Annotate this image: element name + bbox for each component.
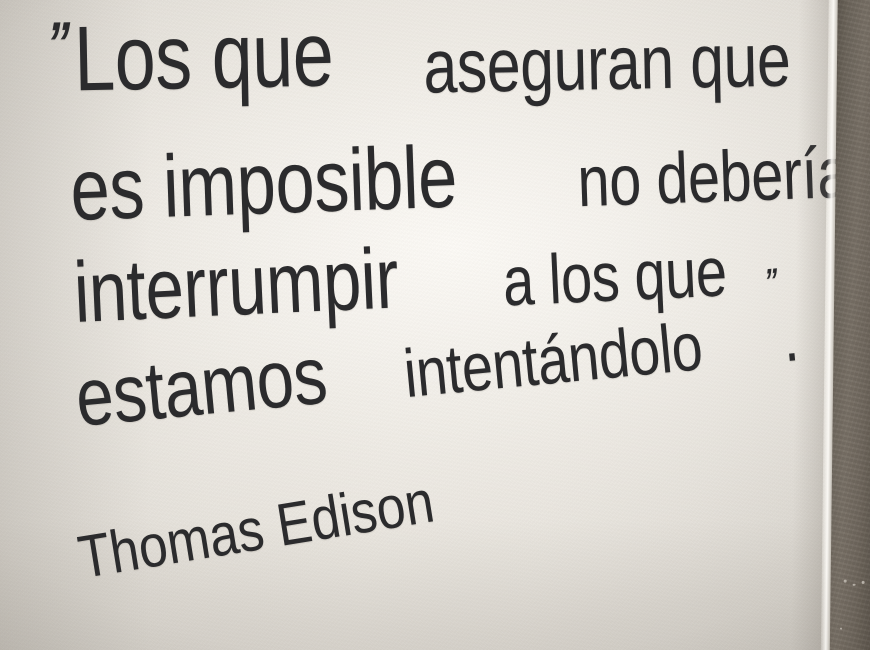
quote-line-4-part-a: estamos <box>72 333 348 440</box>
opening-quote-mark: ” <box>41 13 74 74</box>
quote-line-4-part-b: intentándolo <box>401 312 705 408</box>
attribution-name: Thomas Edison <box>74 471 437 588</box>
quote-line-1: ”Los que aseguran que <box>40 0 870 106</box>
quote-line-2: es imposible no deberían <box>69 115 870 234</box>
wall-corner <box>751 0 870 650</box>
speck <box>840 628 842 630</box>
speck <box>862 581 865 584</box>
speck <box>853 584 856 586</box>
quote-line-1-part-a: Los que <box>73 8 354 105</box>
quote-attribution: Thomas Edison <box>74 462 495 588</box>
quote-line-2-part-a: es imposible <box>69 132 477 234</box>
speck <box>844 580 847 583</box>
quote-text-block: ”Los que aseguran que es imposible no de… <box>0 0 870 650</box>
quote-line-1-part-b: aseguran que <box>423 23 791 106</box>
quote-line-3-part-a: interrumpir <box>72 235 419 336</box>
wall-quote-photo: ”Los que aseguran que es imposible no de… <box>0 0 870 650</box>
